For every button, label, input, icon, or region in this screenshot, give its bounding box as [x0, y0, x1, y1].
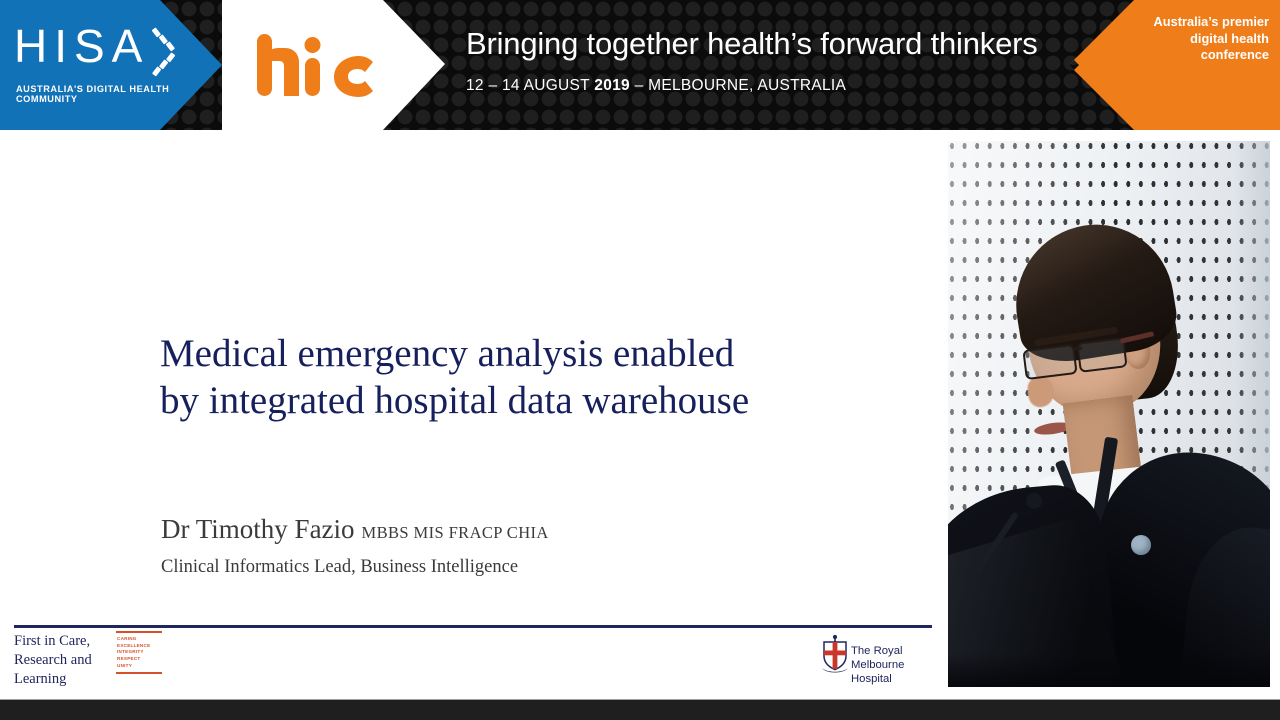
values-list: CARING EXCELLENCE INTEGRITY RESPECT UNIT… — [116, 633, 162, 672]
rmh-values-block: CARING EXCELLENCE INTEGRITY RESPECT UNIT… — [116, 631, 162, 674]
banner-premier-tagline: Australia’s premier digital health confe… — [1139, 14, 1269, 64]
presenter-credentials: MBBS MIS FRACP CHIA — [362, 523, 549, 542]
value-item: RESPECT — [117, 656, 162, 663]
values-bottom-rule — [116, 672, 162, 674]
speaker-video-feed[interactable] — [948, 141, 1270, 687]
slide-title: Medical emergency analysis enabled by in… — [160, 330, 780, 424]
rmh-name-line-2: Melbourne Hospital — [851, 658, 937, 686]
hisa-chevron-arrow-icon — [150, 28, 190, 78]
glasses-left-lens — [1022, 344, 1077, 380]
banner-headline: Bringing together health’s forward think… — [466, 26, 1038, 62]
footer-divider-rule — [14, 625, 932, 628]
video-bottom-fade — [948, 653, 1270, 687]
presentation-slide-screen: HISA AUSTRALIA'S DIGITAL HEALTH COMMUNIT… — [0, 0, 1280, 720]
microphone-head-icon — [1026, 493, 1042, 509]
banner-location: – MELBOURNE, AUSTRALIA — [630, 77, 846, 94]
presenter-name: Dr Timothy Fazio — [161, 514, 355, 544]
presenter-role: Clinical Informatics Lead, Business Inte… — [161, 557, 518, 578]
value-item: CARING — [117, 636, 162, 643]
banner-dates-location: 12 – 14 AUGUST 2019 – MELBOURNE, AUSTRAL… — [466, 77, 846, 95]
presenter-line: Dr Timothy FazioMBBS MIS FRACP CHIA — [161, 514, 549, 545]
hisa-wordmark: HISA — [14, 23, 149, 69]
banner-year: 2019 — [594, 77, 630, 94]
rmh-name-text: The Royal Melbourne Hospital — [851, 644, 937, 686]
banner-dates-prefix: 12 – 14 AUGUST — [466, 77, 594, 94]
value-item: INTEGRITY — [117, 649, 162, 656]
rmh-crest-icon — [820, 634, 850, 676]
player-bottom-bar[interactable] — [0, 700, 1280, 720]
value-item: UNITY — [117, 663, 162, 670]
slide-content: Medical emergency analysis enabled by in… — [0, 130, 940, 700]
conference-banner: HISA AUSTRALIA'S DIGITAL HEALTH COMMUNIT… — [0, 0, 1280, 130]
hic-logo — [255, 30, 375, 100]
value-item: EXCELLENCE — [117, 643, 162, 650]
royal-melbourne-hospital-logo: The Royal Melbourne Hospital — [820, 634, 935, 678]
speaker-lapel-badge — [1131, 535, 1151, 555]
rmh-name-line-1: The Royal — [851, 644, 937, 658]
